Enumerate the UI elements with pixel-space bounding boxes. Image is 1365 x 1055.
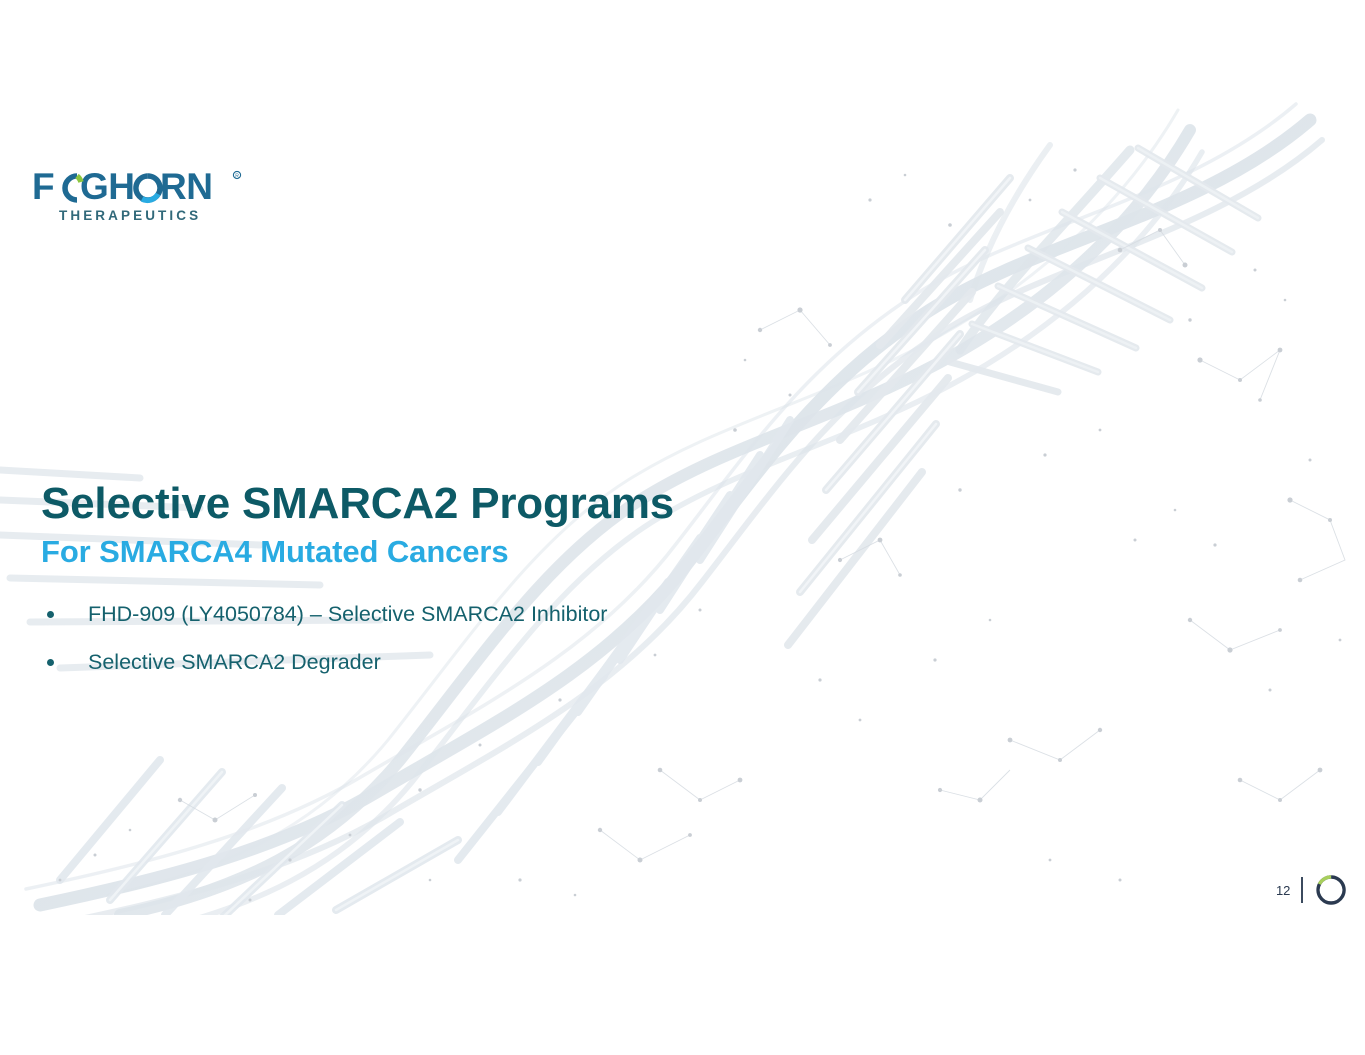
- svg-text:GH: GH: [80, 168, 135, 207]
- page-subtitle: For SMARCA4 Mutated Cancers: [41, 533, 941, 571]
- svg-text:RN: RN: [160, 168, 212, 207]
- bullet-dot-icon: [47, 659, 54, 666]
- svg-text:R: R: [235, 174, 239, 180]
- bullet-dot-icon: [47, 611, 54, 618]
- page-number: 12: [1276, 883, 1290, 898]
- slide-footer: 12: [1276, 873, 1348, 907]
- bullet-list: FHD-909 (LY4050784) – Selective SMARCA2 …: [41, 600, 941, 696]
- logo-tagline: THERAPEUTICS: [59, 208, 201, 223]
- svg-text:F: F: [32, 168, 54, 207]
- title-block: Selective SMARCA2 Programs For SMARCA4 M…: [41, 478, 941, 571]
- slide-canvas: F GH RN R THERAPEUTICS Selective SMARCA2…: [0, 0, 1365, 1055]
- list-item: FHD-909 (LY4050784) – Selective SMARCA2 …: [41, 600, 941, 628]
- footer-divider: [1301, 877, 1303, 903]
- foghorn-wordmark-icon: F GH RN R: [32, 168, 247, 208]
- list-item-label: Selective SMARCA2 Degrader: [88, 650, 381, 674]
- list-item-label: FHD-909 (LY4050784) – Selective SMARCA2 …: [88, 602, 607, 626]
- list-item: Selective SMARCA2 Degrader: [41, 648, 941, 676]
- foghorn-ring-mark-icon: [1314, 873, 1348, 907]
- page-title: Selective SMARCA2 Programs: [41, 478, 941, 530]
- foghorn-therapeutics-logo: F GH RN R THERAPEUTICS: [32, 168, 272, 230]
